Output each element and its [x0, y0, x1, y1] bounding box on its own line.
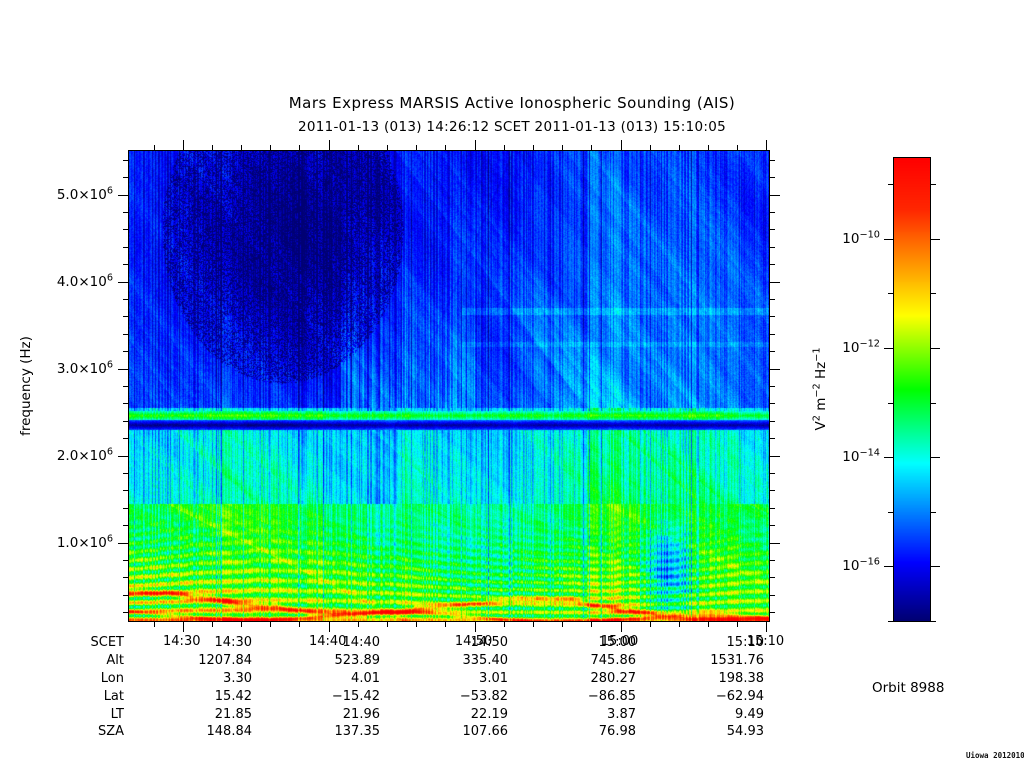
- y-tick-minor-right: [769, 212, 775, 213]
- y-tick-minor: [123, 421, 129, 422]
- x-tick-label-1: 14:40: [309, 634, 346, 649]
- ephemeris-value: 137.35: [252, 723, 380, 741]
- x-tick-minor-top: [679, 145, 680, 151]
- ephemeris-value: 1207.84: [124, 652, 252, 670]
- ephemeris-row-lat: Lat15.42−15.42−53.82−86.85−62.94: [40, 687, 764, 705]
- page-title: Mars Express MARSIS Active Ionospheric S…: [0, 94, 1024, 112]
- ephemeris-value: 198.38: [636, 670, 764, 688]
- y-tick-minor: [123, 264, 129, 265]
- x-tick-minor-top: [591, 145, 592, 151]
- y-tick-minor-right: [769, 595, 775, 596]
- x-tick-minor: [650, 621, 651, 627]
- colorbar-tick-minor-left: [888, 293, 894, 294]
- y-tick-minor-right: [769, 177, 775, 178]
- y-tick-minor: [123, 612, 129, 613]
- colorbar-tick-major-left: [884, 348, 894, 349]
- colorbar-tick-major-left: [884, 239, 894, 240]
- y-tick-label-0: 1.0×106: [57, 535, 113, 551]
- colorbar-tick-major: [930, 239, 940, 240]
- colorbar-tick-minor: [930, 621, 936, 622]
- x-tick-minor-top: [241, 145, 242, 151]
- y-tick-major-right: [769, 282, 780, 283]
- x-tick-minor: [591, 621, 592, 627]
- spectrogram-canvas[interactable]: [129, 151, 769, 621]
- ephemeris-row-sza: SZA148.84137.35107.6676.9854.93: [40, 723, 764, 741]
- y-tick-minor-right: [769, 525, 775, 526]
- y-tick-minor-right: [769, 351, 775, 352]
- colorbar-tick-major-left: [884, 566, 894, 567]
- ephemeris-value: −53.82: [380, 687, 508, 705]
- y-tick-minor: [123, 438, 129, 439]
- y-tick-minor-right: [769, 264, 775, 265]
- x-tick-minor: [387, 621, 388, 627]
- ephemeris-value: 21.85: [124, 705, 252, 723]
- ephemeris-value: 3.01: [380, 670, 508, 688]
- x-tick-major-top: [183, 140, 184, 151]
- y-tick-minor: [123, 490, 129, 491]
- y-tick-minor: [123, 560, 129, 561]
- y-tick-minor-right: [769, 473, 775, 474]
- x-tick-minor: [358, 621, 359, 627]
- ephemeris-grid: SCET14:3014:4014:5015:0015:10Alt1207.845…: [40, 634, 764, 741]
- ephemeris-row-lt: LT21.8521.9622.193.879.49: [40, 705, 764, 723]
- x-tick-major: [329, 621, 330, 632]
- y-tick-minor: [123, 177, 129, 178]
- x-tick-minor: [270, 621, 271, 627]
- y-tick-minor: [123, 160, 129, 161]
- x-tick-minor-top: [504, 145, 505, 151]
- y-tick-minor-right: [769, 229, 775, 230]
- ephemeris-value: 280.27: [508, 670, 636, 688]
- y-tick-minor-right: [769, 612, 775, 613]
- y-tick-label-1: 2.0×106: [57, 448, 113, 464]
- x-tick-minor-top: [358, 145, 359, 151]
- x-tick-minor: [416, 621, 417, 627]
- colorbar-tick-label-0: 10−10: [842, 231, 880, 247]
- y-tick-minor: [123, 351, 129, 352]
- x-tick-minor: [504, 621, 505, 627]
- y-tick-major: [118, 369, 129, 370]
- ephemeris-row-label: Lat: [40, 687, 124, 705]
- x-tick-minor-top: [154, 145, 155, 151]
- colorbar-tick-major: [930, 348, 940, 349]
- page-subtitle: 2011-01-13 (013) 14:26:12 SCET 2011-01-1…: [0, 119, 1024, 135]
- y-tick-label-2: 3.0×106: [57, 361, 113, 377]
- ephemeris-value: 335.40: [380, 652, 508, 670]
- ephemeris-value: 9.49: [636, 705, 764, 723]
- ephemeris-row-scet: SCET14:3014:4014:5015:0015:10: [40, 634, 764, 652]
- colorbar-title-hz: Hz: [813, 362, 829, 384]
- y-tick-minor-right: [769, 299, 775, 300]
- x-tick-label-3: 15:00: [601, 634, 638, 649]
- y-tick-major: [118, 543, 129, 544]
- x-tick-major: [475, 621, 476, 632]
- y-tick-minor-right: [769, 403, 775, 404]
- x-tick-minor-top: [387, 145, 388, 151]
- x-tick-major-top: [766, 140, 767, 151]
- y-tick-minor: [123, 473, 129, 474]
- x-tick-label-0: 14:30: [163, 634, 200, 649]
- colorbar-exp-2: 2: [812, 415, 823, 421]
- x-tick-minor: [708, 621, 709, 627]
- y-tick-minor: [123, 525, 129, 526]
- colorbar-tick-minor: [930, 403, 936, 404]
- y-tick-minor: [123, 595, 129, 596]
- x-tick-minor-top: [650, 145, 651, 151]
- y-tick-major: [118, 195, 129, 196]
- x-tick-minor-top: [270, 145, 271, 151]
- x-tick-label-4: 15:10: [747, 634, 784, 649]
- ephemeris-value: 15:10: [636, 634, 764, 652]
- ephemeris-row-label: SCET: [40, 634, 124, 652]
- x-tick-minor-top: [416, 145, 417, 151]
- y-tick-minor: [123, 577, 129, 578]
- y-tick-minor-right: [769, 438, 775, 439]
- y-tick-major-right: [769, 456, 780, 457]
- y-tick-minor: [123, 403, 129, 404]
- ephemeris-value: 745.86: [508, 652, 636, 670]
- y-tick-minor-right: [769, 421, 775, 422]
- y-tick-minor: [123, 212, 129, 213]
- x-tick-major: [183, 621, 184, 632]
- y-tick-minor-right: [769, 247, 775, 248]
- colorbar-tick-label-3: 10−16: [842, 558, 880, 574]
- x-tick-minor: [212, 621, 213, 627]
- y-tick-minor: [123, 299, 129, 300]
- colorbar-tick-label-2: 10−14: [842, 449, 880, 465]
- y-tick-minor-right: [769, 577, 775, 578]
- y-tick-major: [118, 456, 129, 457]
- ephemeris-row-lon: Lon3.304.013.01280.27198.38: [40, 670, 764, 688]
- colorbar-tick-major-left: [884, 457, 894, 458]
- y-tick-major-right: [769, 369, 780, 370]
- x-tick-minor-top: [299, 145, 300, 151]
- ephemeris-value: 4.01: [252, 670, 380, 688]
- x-tick-label-2: 14:50: [455, 634, 492, 649]
- colorbar-tick-major: [930, 566, 940, 567]
- ephemeris-value: −15.42: [252, 687, 380, 705]
- ephemeris-value: 22.19: [380, 705, 508, 723]
- y-tick-minor: [123, 334, 129, 335]
- ephemeris-value: 3.87: [508, 705, 636, 723]
- x-tick-minor: [299, 621, 300, 627]
- ephemeris-value: 523.89: [252, 652, 380, 670]
- colorbar-tick-label-1: 10−12: [842, 340, 880, 356]
- x-tick-minor-top: [562, 145, 563, 151]
- x-tick-minor-top: [737, 145, 738, 151]
- x-tick-minor: [241, 621, 242, 627]
- spectrogram-plot[interactable]: 1.0×1062.0×1063.0×1064.0×1065.0×106: [128, 150, 770, 622]
- colorbar-title-m: m: [813, 398, 829, 415]
- y-tick-major-right: [769, 195, 780, 196]
- y-tick-major: [118, 282, 129, 283]
- colorbar-exp-m2: −2: [812, 383, 823, 397]
- ephemeris-value: 3.30: [124, 670, 252, 688]
- x-tick-minor-top: [708, 145, 709, 151]
- colorbar-tick-major: [930, 457, 940, 458]
- colorbar-tick-minor-left: [888, 512, 894, 513]
- x-tick-major-top: [475, 140, 476, 151]
- y-tick-minor-right: [769, 160, 775, 161]
- ephemeris-row-label: SZA: [40, 723, 124, 741]
- y-tick-minor-right: [769, 560, 775, 561]
- colorbar-tick-minor-left: [888, 184, 894, 185]
- ephemeris-table: SCET14:3014:4014:5015:0015:10Alt1207.845…: [40, 634, 764, 741]
- y-tick-major-right: [769, 543, 780, 544]
- colorbar-tick-minor: [930, 184, 936, 185]
- ephemeris-value: 148.84: [124, 723, 252, 741]
- y-tick-minor: [123, 247, 129, 248]
- x-tick-minor-top: [212, 145, 213, 151]
- colorbar-exp-hz: −1: [812, 347, 823, 361]
- colorbar-title: V2 m−2 Hz−1: [813, 347, 829, 430]
- colorbar[interactable]: 10−1010−1210−1410−16: [893, 157, 931, 622]
- ephemeris-value: 1531.76: [636, 652, 764, 670]
- x-tick-minor: [533, 621, 534, 627]
- colorbar-tick-minor: [930, 293, 936, 294]
- colorbar-tick-minor-left: [888, 621, 894, 622]
- x-tick-minor-top: [533, 145, 534, 151]
- x-tick-minor: [679, 621, 680, 627]
- x-tick-minor-top: [445, 145, 446, 151]
- y-tick-minor: [123, 229, 129, 230]
- x-tick-minor: [737, 621, 738, 627]
- colorbar-tick-minor-left: [888, 403, 894, 404]
- x-tick-minor: [154, 621, 155, 627]
- y-tick-minor: [123, 508, 129, 509]
- orbit-label: Orbit 8988: [872, 680, 944, 696]
- colorbar-gradient: [894, 158, 930, 621]
- ephemeris-value: 54.93: [636, 723, 764, 741]
- x-tick-major-top: [329, 140, 330, 151]
- y-tick-label-4: 5.0×106: [57, 187, 113, 203]
- y-tick-minor-right: [769, 508, 775, 509]
- ephemeris-value: 76.98: [508, 723, 636, 741]
- ephemeris-value: −62.94: [636, 687, 764, 705]
- ephemeris-row-label: Lon: [40, 670, 124, 688]
- ephemeris-value: 21.96: [252, 705, 380, 723]
- x-tick-minor: [445, 621, 446, 627]
- y-tick-minor-right: [769, 386, 775, 387]
- y-tick-minor-right: [769, 316, 775, 317]
- x-tick-major: [621, 621, 622, 632]
- colorbar-tick-minor: [930, 512, 936, 513]
- y-axis-title: frequency (Hz): [18, 336, 34, 436]
- ephemeris-row-label: Alt: [40, 652, 124, 670]
- watermark: Uiowa 20120106: [966, 751, 1024, 760]
- y-tick-minor-right: [769, 490, 775, 491]
- ephemeris-row-label: LT: [40, 705, 124, 723]
- y-tick-minor: [123, 316, 129, 317]
- x-tick-minor: [562, 621, 563, 627]
- ephemeris-row-alt: Alt1207.84523.89335.40745.861531.76: [40, 652, 764, 670]
- ephemeris-value: 15.42: [124, 687, 252, 705]
- y-tick-label-3: 4.0×106: [57, 274, 113, 290]
- y-tick-minor: [123, 386, 129, 387]
- ephemeris-value: 107.66: [380, 723, 508, 741]
- x-tick-major: [766, 621, 767, 632]
- x-tick-major-top: [621, 140, 622, 151]
- y-tick-minor-right: [769, 334, 775, 335]
- colorbar-title-v: V: [813, 421, 829, 430]
- ephemeris-value: −86.85: [508, 687, 636, 705]
